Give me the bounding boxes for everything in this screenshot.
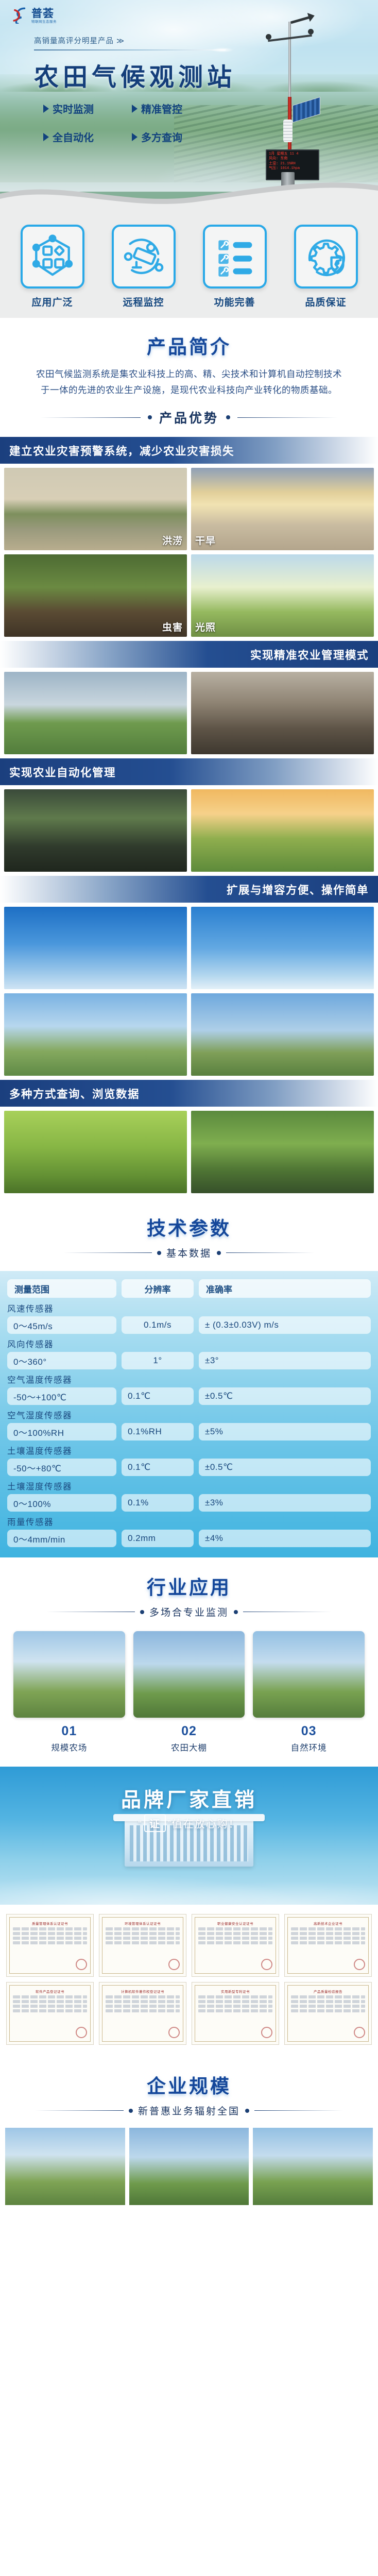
certificate-title: 高新技术企业证书 [314,1921,342,1926]
hero-feature-item: 全自动化 [43,129,125,144]
advantage-banner: 建立农业灾害预警系统，减少农业灾害损失 [0,437,378,464]
photo-wind-sensor [4,907,187,989]
certificate-item[interactable]: 质量管理体系认证证书 [6,1914,94,1977]
certificate-item[interactable]: 产品质量检验报告 [284,1982,372,2045]
table-row: 风速传感器 0～45m/s 0.1m/s ± (0.3±0.03V) m/s [7,1302,371,1334]
tech-subtitle-row: 基本数据 [0,1246,378,1260]
triangle-bullet-icon [132,105,138,113]
certificate-title: 职业健康安全认证证书 [217,1921,253,1926]
photo-caption: 干旱 [195,533,216,547]
industry-card[interactable]: 03 自然环境 [253,1631,365,1753]
hero-feature-label: 全自动化 [53,129,94,144]
certificate-item[interactable]: 环境管理体系认证证书 [99,1914,186,1977]
tech-params-table: 测量范围 分辨率 准确率 风速传感器 0～45m/s 0.1m/s ± (0.3… [0,1271,378,1557]
hero-feature-label: 多方查询 [141,129,182,144]
hero-divider [34,49,226,50]
feature-icon-label: 功能完善 [192,295,278,309]
cell-range: 0～45m/s [7,1316,116,1334]
anemometer-cup [266,34,271,40]
photo-mast [191,907,374,989]
product-intro-section: 产品简介 农田气候监测系统是集农业科技上的高、精、尖技术和计算机自动控制技术于一… [0,318,378,437]
enterprise-subtitle: 新普惠业务辐射全国 [138,2104,240,2117]
section-title-industry: 行业应用 [0,1572,378,1600]
triangle-bullet-icon [132,133,138,141]
advantage-block: 多种方式查询、浏览数据 [0,1080,378,1197]
industry-card-name: 自然环境 [253,1741,365,1753]
table-row: 土壤温度传感器 -50～+80℃ 0.1℃ ±0.5℃ [7,1444,371,1476]
industry-card-name: 农田大棚 [133,1741,245,1753]
section-title-tech: 技术参数 [0,1213,378,1241]
industry-card-name: 规模农场 [13,1741,125,1753]
led-line: 土湿: 21.1%RH [269,162,316,166]
industry-application-section: 行业应用 多场合专业监测 01 规模农场 02 农田大棚 03 自然环境 [0,1557,378,1767]
certificate-item[interactable]: 计算机软件著作权登记证书 [99,1982,186,2045]
divider-dot [140,1610,144,1614]
brand-slogan-suffix: ”值在放心购！ [167,1819,240,1830]
anemometer-cup [308,29,314,35]
enterprise-photo [5,2128,125,2205]
certificate-row-top: 质量管理体系认证证书 环境管理体系认证证书 职业健康安全认证证书 高新技术企业证… [6,1914,372,1977]
brand-direct-sales-section: 品牌厂家直销 “证”值在放心购！ [0,1767,378,1905]
enterprise-photo-grid [0,2117,378,2205]
sensor-group-label: 空气温度传感器 [7,1373,371,1385]
divider-dot [148,415,152,419]
divider-line-right [243,1612,332,1612]
network-nodes-icon [21,225,84,289]
divider-line-left [40,417,141,418]
brand-slogan-prefix: “ [138,1819,143,1830]
certificate-title: 实用新型专利证书 [221,1989,250,1994]
advantage-block: 实现精准农业管理模式 [0,641,378,758]
feature-icon-label: 应用广泛 [9,295,95,309]
brand-section-title: 品牌厂家直销 [0,1784,378,1813]
industry-subtitle-row: 多场合专业监测 [0,1605,378,1619]
hero-feature-label: 实时监测 [53,101,94,116]
photo-agritech [4,789,187,872]
certificate-item[interactable]: 实用新型专利证书 [192,1982,279,2045]
cell-resolution: 0.1%RH [122,1423,194,1440]
brand-wave-decoration [0,1858,378,1905]
divider-dot [217,1251,221,1255]
cell-range: -50～+80℃ [7,1459,116,1476]
feature-icon-cell[interactable]: 远程监控 [100,225,186,309]
cell-accuracy: ±3° [199,1352,371,1369]
table-row: 土壤湿度传感器 0～100% 0.1% ±3% [7,1480,371,1512]
advantage-banner: 扩展与增容方便、操作简单 [0,876,378,903]
divider-dot [226,415,230,419]
table-row: 空气湿度传感器 0～100%RH 0.1%RH ±5% [7,1409,371,1440]
divider-line-right [254,2110,343,2111]
divider-line-left [35,2110,124,2111]
feature-icon-cell[interactable]: 品质保证 [283,225,369,309]
cell-range: 0～4mm/min [7,1530,116,1547]
hero-bottom-curve [0,176,378,212]
table-row: 雨量传感器 0～4mm/min 0.2mm ±4% [7,1515,371,1547]
triangle-bullet-icon [43,133,49,141]
tech-subtitle: 基本数据 [166,1246,212,1260]
certificate-item[interactable]: 职业健康安全认证证书 [192,1914,279,1977]
sensor-group-label: 土壤湿度传感器 [7,1480,371,1492]
enterprise-photo [129,2128,249,2205]
photo-sensor-arm [4,993,187,1076]
cell-range: 0～100% [7,1494,116,1512]
checklist-wrench-icon [203,225,267,289]
weather-station-illustration: 1月 星期五 11 4 风向: 东南 土湿: 21.1%RH 气压: 1014.… [259,9,320,200]
cell-resolution: 0.2mm [122,1530,194,1547]
section-title-enterprise: 企业规模 [0,2071,378,2098]
certificate-title: 产品质量检验报告 [314,1989,342,1994]
divider-dot [234,1610,238,1614]
section-title-intro: 产品简介 [0,331,378,359]
certificate-gallery: 质量管理体系认证证书 环境管理体系认证证书 职业健康安全认证证书 高新技术企业证… [0,1905,378,2057]
cell-resolution: 0.1% [122,1494,194,1512]
industry-photo [13,1631,125,1718]
column-header-resolution: 分辨率 [122,1279,194,1298]
certificate-title: 软件产品登记证书 [36,1989,64,1994]
feature-icon-label: 品质保证 [283,295,369,309]
photo-pest: 虫害 [4,554,187,637]
gear-shield-icon [294,225,358,289]
sensor-group-label: 风速传感器 [7,1302,371,1314]
brand-slogan-badge: 证 [144,1814,166,1832]
solar-panel-icon [293,97,320,123]
hero-banner: 普荟 物联网生态服务 高销量高评分明星产品 ≫ 农田气候观测站 实时监测 精准管… [0,0,378,212]
led-line: 气压: 1014.1hpa [269,166,316,171]
certificate-item[interactable]: 高新技术企业证书 [284,1914,372,1977]
industry-card-grid: 01 规模农场 02 农田大棚 03 自然环境 [0,1619,378,1753]
enterprise-subtitle-row: 新普惠业务辐射全国 [0,2104,378,2117]
advantage-block: 扩展与增容方便、操作简单 [0,876,378,1080]
divider-dot [157,1251,161,1255]
advantage-banner: 实现精准农业管理模式 [0,641,378,668]
cell-accuracy: ±0.5℃ [199,1459,371,1476]
cell-resolution: 0.1℃ [122,1459,194,1476]
product-detail-page: 普荟 物联网生态服务 高销量高评分明星产品 ≫ 农田气候观测站 实时监测 精准管… [0,0,378,2210]
hero-feature-list: 实时监测 精准管控 全自动化 多方查询 [43,101,213,144]
brand-logo-tagline: 物联网生态服务 [31,21,57,24]
product-advantage-heading: 产品优势 [0,408,378,427]
table-row: 空气温度传感器 -50～+100℃ 0.1℃ ±0.5℃ [7,1373,371,1405]
radiation-shield-icon [283,120,293,142]
page-title: 农田气候观测站 [34,57,236,93]
industry-card-number: 02 [133,1724,245,1739]
enterprise-scale-section: 企业规模 新普惠业务辐射全国 [0,2057,378,2210]
table-row: 风向传感器 0～360° 1° ±3° [7,1337,371,1369]
industry-card-number: 03 [253,1724,365,1739]
photo-drought: 干旱 [191,468,374,550]
feature-icon-label: 远程监控 [100,295,186,309]
feature-icon-cell[interactable]: 应用广泛 [9,225,95,309]
photo-soil-sensor [191,672,374,754]
photo-station-array [191,993,374,1076]
industry-subtitle: 多场合专业监测 [149,1605,229,1619]
cell-range: 0～360° [7,1352,116,1369]
feature-icon-cell[interactable]: 功能完善 [192,225,278,309]
advantage-photo-grid [0,1107,378,1197]
divider-dot [245,2109,249,2113]
certificate-title: 计算机软件著作权登记证书 [121,1989,164,1994]
divider-line-right [226,1252,315,1253]
certificate-item[interactable]: 软件产品登记证书 [6,1982,94,2045]
sensor-group-label: 土壤温度传感器 [7,1444,371,1456]
table-header-row: 测量范围 分辨率 准确率 [7,1279,371,1298]
cctv-camera-icon [112,225,176,289]
photo-caption: 洪涝 [162,533,183,547]
sensor-group-label: 风向传感器 [7,1337,371,1350]
photo-flood: 洪涝 [4,468,187,550]
sensor-group-label: 空气湿度传感器 [7,1409,371,1421]
photo-caption: 光照 [195,620,216,634]
hero-feature-item: 精准管控 [132,101,213,116]
advantage-photo-grid [0,668,378,758]
divider-line-right [237,417,338,418]
divider-dot [129,2109,133,2113]
wind-vane-icon [290,16,311,24]
advantage-block: 实现农业自动化管理 [0,758,378,876]
industry-card[interactable]: 02 农田大棚 [133,1631,245,1753]
photo-smart-field [4,672,187,754]
cell-range: -50～+100℃ [7,1387,116,1405]
led-line: 风向: 东南 [269,157,316,161]
hero-feature-label: 精准管控 [141,101,182,116]
triangle-bullet-icon [43,105,49,113]
photo-tablet-query [191,1111,374,1193]
column-header-accuracy: 准确率 [199,1279,371,1298]
feature-icon-row: 应用广泛 远程监控 [0,212,378,318]
cell-accuracy: ±3% [199,1494,371,1512]
advantage-photo-grid [0,903,378,1080]
cell-accuracy: ±5% [199,1423,371,1440]
cell-accuracy: ± (0.3±0.03V) m/s [199,1316,371,1334]
certificate-title: 环境管理体系认证证书 [125,1921,161,1926]
advantage-block: 建立农业灾害预警系统，减少农业灾害损失 洪涝 干旱 虫害 光照 [0,437,378,641]
sensor-group-label: 雨量传感器 [7,1515,371,1528]
industry-photo [253,1631,365,1718]
divider-line-left [63,1252,152,1253]
brand-slogan: “证”值在放心购！ [0,1814,378,1832]
tech-params-section: 技术参数 基本数据 测量范围 分辨率 准确率 风速传感器 0～45m/s 0.1… [0,1197,378,1557]
advantage-photo-grid [0,785,378,876]
industry-photo [133,1631,245,1718]
cell-resolution: 0.1℃ [122,1387,194,1405]
photo-irrigation [191,789,374,872]
cell-range: 0～100%RH [7,1423,116,1440]
brand-logo[interactable]: 普荟 物联网生态服务 [11,6,57,24]
photo-sunlight: 光照 [191,554,374,637]
enterprise-photo [253,2128,373,2205]
advantage-photo-grid: 洪涝 干旱 虫害 光照 [0,464,378,641]
advantage-banner: 多种方式查询、浏览数据 [0,1080,378,1107]
advantage-banner: 实现农业自动化管理 [0,758,378,785]
cell-resolution: 1° [122,1352,194,1369]
hero-feature-item: 实时监测 [43,101,125,116]
divider-line-left [46,1612,135,1612]
certificate-title: 质量管理体系认证证书 [32,1921,68,1926]
hero-eyebrow: 高销量高评分明星产品 ≫ [34,35,125,46]
cell-resolution: 0.1m/s [122,1316,194,1334]
industry-card-number: 01 [13,1724,125,1739]
product-intro-text: 农田气候监测系统是集农业科技上的高、精、尖技术和计算机自动控制技术于一体的先进的… [35,366,343,398]
photo-caption: 虫害 [162,620,183,634]
product-advantage-title: 产品优势 [159,408,219,427]
industry-card[interactable]: 01 规模农场 [13,1631,125,1753]
hero-feature-item: 多方查询 [132,129,213,144]
brand-swirl-icon [11,6,29,24]
cell-accuracy: ±4% [199,1530,371,1547]
photo-handheld-query [4,1111,187,1193]
cell-accuracy: ±0.5℃ [199,1387,371,1405]
column-header-range: 测量范围 [7,1279,116,1298]
certificate-row-bottom: 软件产品登记证书 计算机软件著作权登记证书 实用新型专利证书 产品质量检验报告 [6,1982,372,2045]
brand-logo-name: 普荟 [31,8,57,19]
